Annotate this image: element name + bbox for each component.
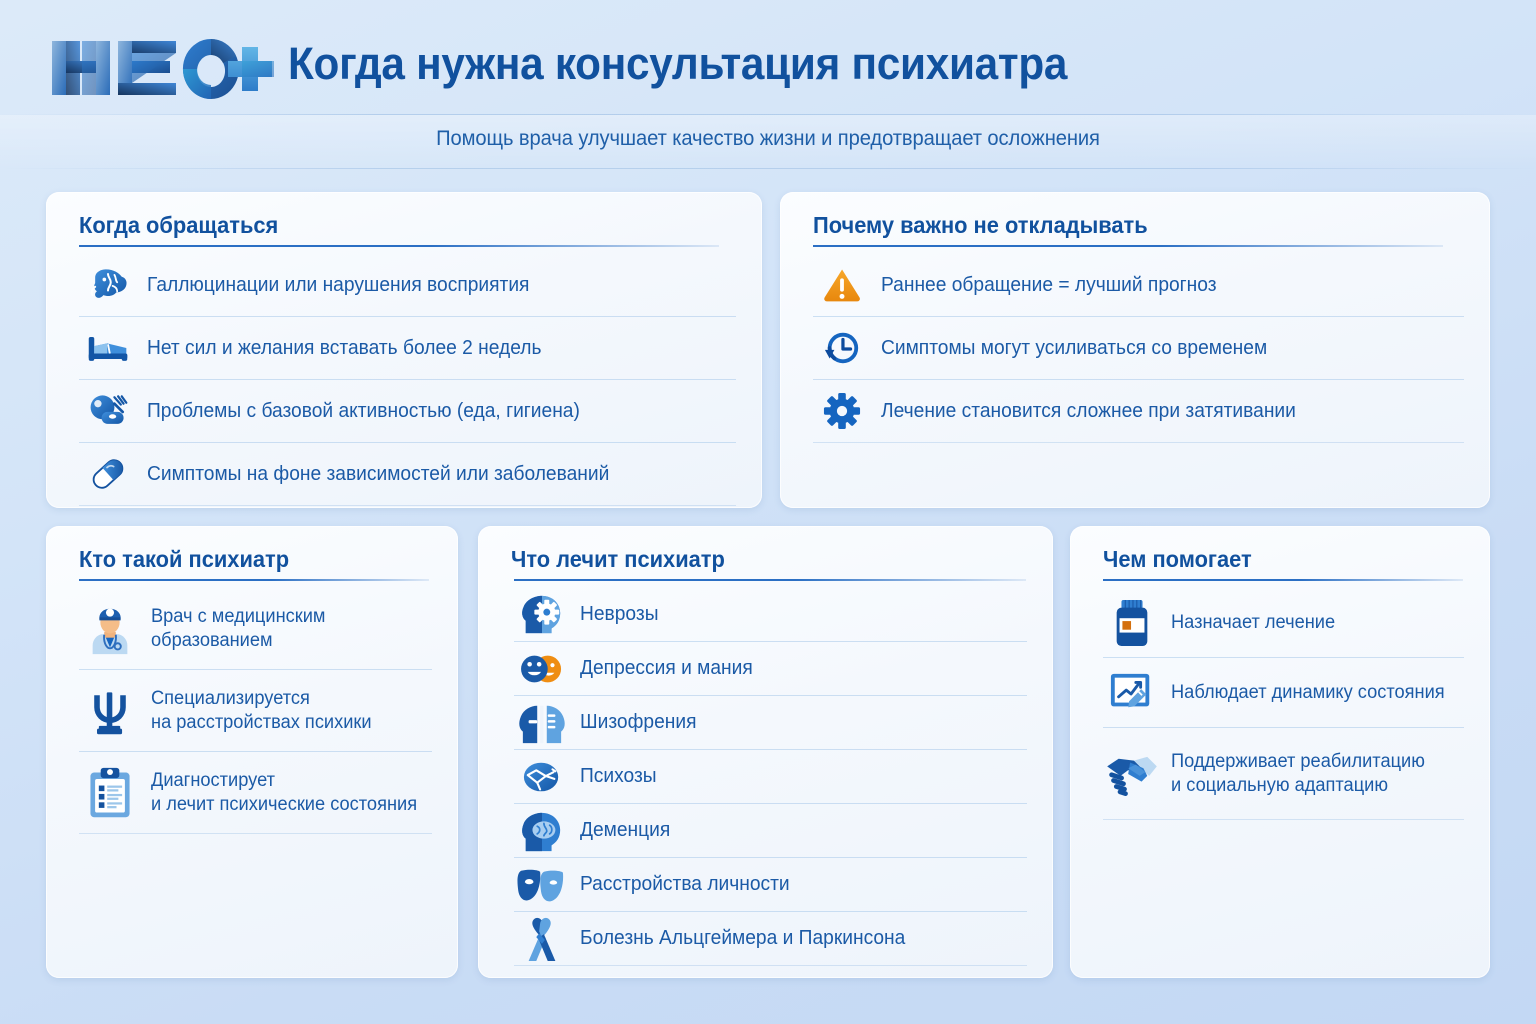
card-title-rule	[813, 245, 1443, 247]
two-faces-icon	[514, 646, 570, 692]
list-item[interactable]: Нет сил и желания вставать более 2 недел…	[79, 317, 736, 380]
list-item-label: Депрессия и мания	[580, 656, 753, 680]
list-item-label: Деменция	[580, 818, 670, 842]
list-item[interactable]: Неврозы	[514, 588, 1027, 642]
list-item[interactable]: Болезнь Альцгеймера и Паркинсона	[514, 912, 1027, 966]
list-item[interactable]: Лечение становится сложнее при затятиван…	[813, 380, 1464, 443]
list-item[interactable]: Диагностирует и лечит психические состоя…	[79, 752, 432, 834]
list-item-label: Врач с медицинским образованием	[151, 605, 325, 651]
handshake-icon	[1103, 747, 1161, 801]
list-item[interactable]: Врач с медицинским образованием	[79, 588, 432, 670]
chart-pencil-icon	[1103, 666, 1161, 720]
psychosis-icon	[514, 754, 570, 800]
card-title-rule	[79, 579, 429, 581]
list-item[interactable]: Наблюдает динамику состояния	[1103, 658, 1464, 728]
card-when-to-seek-help: Когда обращаться Галлюцинации или наруше…	[46, 192, 762, 508]
psi-symbol-icon	[79, 681, 141, 741]
card-title: Чем помогает	[1103, 546, 1252, 573]
list-item[interactable]: Шизофрения	[514, 696, 1027, 750]
card-what-psychiatrist-treats: Что лечит психиатр	[478, 526, 1053, 978]
list-item-label: Наблюдает динамику состояния	[1171, 681, 1445, 704]
bed-icon	[79, 326, 137, 370]
list-item[interactable]: Специализируется на расстройствах психик…	[79, 670, 432, 752]
brain-icon	[79, 263, 137, 307]
list-item-label: Психозы	[580, 764, 657, 788]
card-title: Почему важно не откладывать	[813, 212, 1148, 239]
list-item[interactable]: Расстройства личности	[514, 858, 1027, 912]
list-item-label: Лечение становится сложнее при затятиван…	[881, 399, 1296, 423]
list-item-label: Диагностирует и лечит психические состоя…	[151, 769, 417, 815]
theater-masks-icon	[514, 862, 570, 908]
page-header: Когда нужна консультация психиатра Помощ…	[0, 0, 1536, 170]
list-item-label: Проблемы с базовой активностью (еда, гиг…	[147, 399, 580, 423]
list-item-label: Симптомы на фоне зависимостей или заболе…	[147, 462, 609, 486]
list-item[interactable]: Назначает лечение	[1103, 588, 1464, 658]
card-title: Когда обращаться	[79, 212, 278, 239]
pill-bottle-icon	[1103, 596, 1161, 650]
list-item[interactable]: Симптомы на фоне зависимостей или заболе…	[79, 443, 736, 506]
doctor-avatar-icon	[79, 599, 141, 659]
list-item-label: Назначает лечение	[1171, 611, 1335, 634]
list-item[interactable]: Галлюцинации или нарушения восприятия	[79, 254, 736, 317]
card-title: Кто такой психиатр	[79, 546, 289, 573]
list-item[interactable]: Деменция	[514, 804, 1027, 858]
list-item[interactable]: Проблемы с базовой активностью (еда, гиг…	[79, 380, 736, 443]
list-item-label: Болезнь Альцгеймера и Паркинсона	[580, 926, 905, 950]
head-gear-icon	[514, 592, 570, 638]
card-why-not-postpone: Почему важно не откладывать Раннее обращ…	[780, 192, 1490, 508]
awareness-ribbon-icon	[514, 916, 570, 962]
list-item-label: Галлюцинации или нарушения восприятия	[147, 273, 529, 297]
card-title-rule	[514, 579, 1026, 581]
page-title: Когда нужна консультация психиатра	[288, 38, 1067, 90]
card-who-is-psychiatrist: Кто такой психиатр Врач с медицинским об	[46, 526, 458, 978]
card-item-list: Неврозы Депрессия и мания	[514, 588, 1027, 966]
list-item-label: Раннее обращение = лучший прогноз	[881, 273, 1217, 297]
clipboard-icon	[79, 763, 141, 823]
list-item-label: Шизофрения	[580, 710, 696, 734]
list-item[interactable]: Раннее обращение = лучший прогноз	[813, 254, 1464, 317]
list-item-label: Расстройства личности	[580, 872, 790, 896]
card-title: Что лечит психиатр	[511, 546, 725, 573]
list-item-label: Специализируется на расстройствах психик…	[151, 687, 372, 733]
card-item-list: Назначает лечение Наблюдает динамику сос…	[1103, 588, 1464, 820]
list-item-label: Поддерживает реабилитацию и социальную а…	[1171, 750, 1425, 796]
split-heads-icon	[514, 700, 570, 746]
list-item[interactable]: Симптомы могут усиливаться со временем	[813, 317, 1464, 380]
neo-plus-logo-icon	[46, 33, 276, 103]
card-item-list: Врач с медицинским образованием Специали…	[79, 588, 432, 834]
card-item-list: Раннее обращение = лучший прогноз Симпто…	[813, 254, 1464, 443]
list-item[interactable]: Поддерживает реабилитацию и социальную а…	[1103, 728, 1464, 820]
card-how-it-helps: Чем помогает Назначает лечение	[1070, 526, 1490, 978]
card-title-rule	[1103, 579, 1463, 581]
list-item[interactable]: Депрессия и мания	[514, 642, 1027, 696]
capsule-icon	[79, 452, 137, 496]
gear-icon	[813, 389, 871, 433]
list-item-label: Нет сил и желания вставать более 2 недел…	[147, 336, 541, 360]
brand-logo	[46, 33, 276, 103]
head-brain-icon	[514, 808, 570, 854]
list-item[interactable]: Психозы	[514, 750, 1027, 804]
warning-triangle-icon	[813, 263, 871, 307]
page-subtitle: Помощь врача улучшает качество жизни и п…	[31, 127, 1506, 151]
card-item-list: Галлюцинации или нарушения восприятия Не…	[79, 254, 736, 506]
card-title-rule	[79, 245, 719, 247]
list-item-label: Неврозы	[580, 602, 658, 626]
list-item-label: Симптомы могут усиливаться со временем	[881, 336, 1267, 360]
plate-fork-icon	[79, 389, 137, 433]
clock-history-icon	[813, 326, 871, 370]
